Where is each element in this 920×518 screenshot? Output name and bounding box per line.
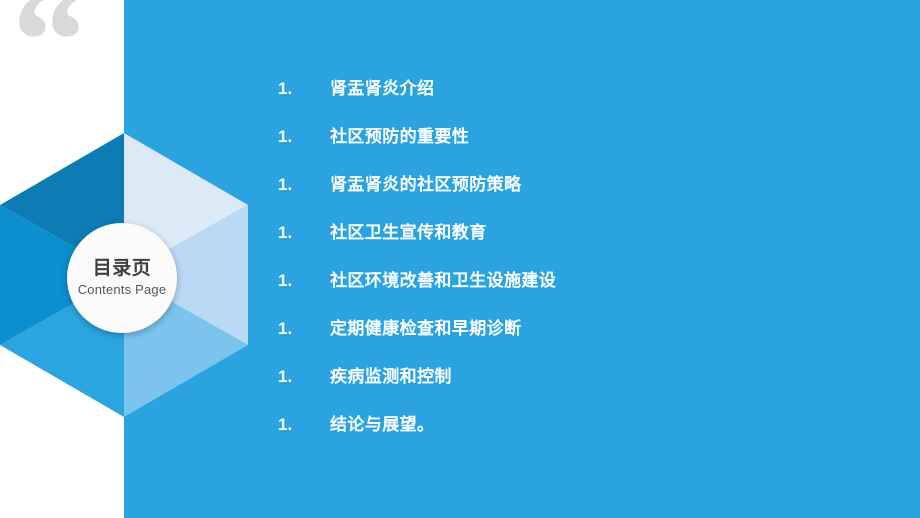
list-item-label: 社区环境改善和卫生设施建设 bbox=[330, 266, 556, 291]
list-item[interactable]: 1. 社区预防的重要性 bbox=[278, 122, 878, 170]
list-item[interactable]: 1. 社区环境改善和卫生设施建设 bbox=[278, 266, 878, 314]
list-item[interactable]: 1. 定期健康检查和早期诊断 bbox=[278, 314, 878, 362]
list-item[interactable]: 1. 肾盂肾炎的社区预防策略 bbox=[278, 170, 878, 218]
quotation-mark-icon: “ bbox=[12, 0, 87, 116]
list-item-number: 1. bbox=[278, 367, 330, 387]
list-item[interactable]: 1. 疾病监测和控制 bbox=[278, 362, 878, 410]
list-item-label: 疾病监测和控制 bbox=[330, 362, 452, 387]
list-item-number: 1. bbox=[278, 175, 330, 195]
contents-badge: 目录页 Contents Page bbox=[67, 223, 177, 333]
list-item-number: 1. bbox=[278, 415, 330, 435]
list-item-label: 肾盂肾炎介绍 bbox=[330, 74, 434, 99]
badge-subtitle: Contents Page bbox=[78, 283, 167, 298]
list-item[interactable]: 1. 社区卫生宣传和教育 bbox=[278, 218, 878, 266]
list-item-number: 1. bbox=[278, 127, 330, 147]
slide-canvas: “ 目录页 Contents Page 1. 肾盂肾炎介绍 1. 社区预防的重要… bbox=[0, 0, 920, 518]
contents-list: 1. 肾盂肾炎介绍 1. 社区预防的重要性 1. 肾盂肾炎的社区预防策略 1. … bbox=[278, 74, 878, 458]
list-item-number: 1. bbox=[278, 271, 330, 291]
list-item[interactable]: 1. 结论与展望。 bbox=[278, 410, 878, 458]
list-item-label: 肾盂肾炎的社区预防策略 bbox=[330, 170, 521, 195]
list-item-label: 社区卫生宣传和教育 bbox=[330, 218, 487, 243]
list-item-number: 1. bbox=[278, 79, 330, 99]
list-item-label: 结论与展望。 bbox=[330, 410, 434, 435]
badge-title: 目录页 bbox=[93, 258, 152, 280]
list-item[interactable]: 1. 肾盂肾炎介绍 bbox=[278, 74, 878, 122]
list-item-number: 1. bbox=[278, 223, 330, 243]
list-item-label: 定期健康检查和早期诊断 bbox=[330, 314, 521, 339]
list-item-number: 1. bbox=[278, 319, 330, 339]
list-item-label: 社区预防的重要性 bbox=[330, 122, 469, 147]
